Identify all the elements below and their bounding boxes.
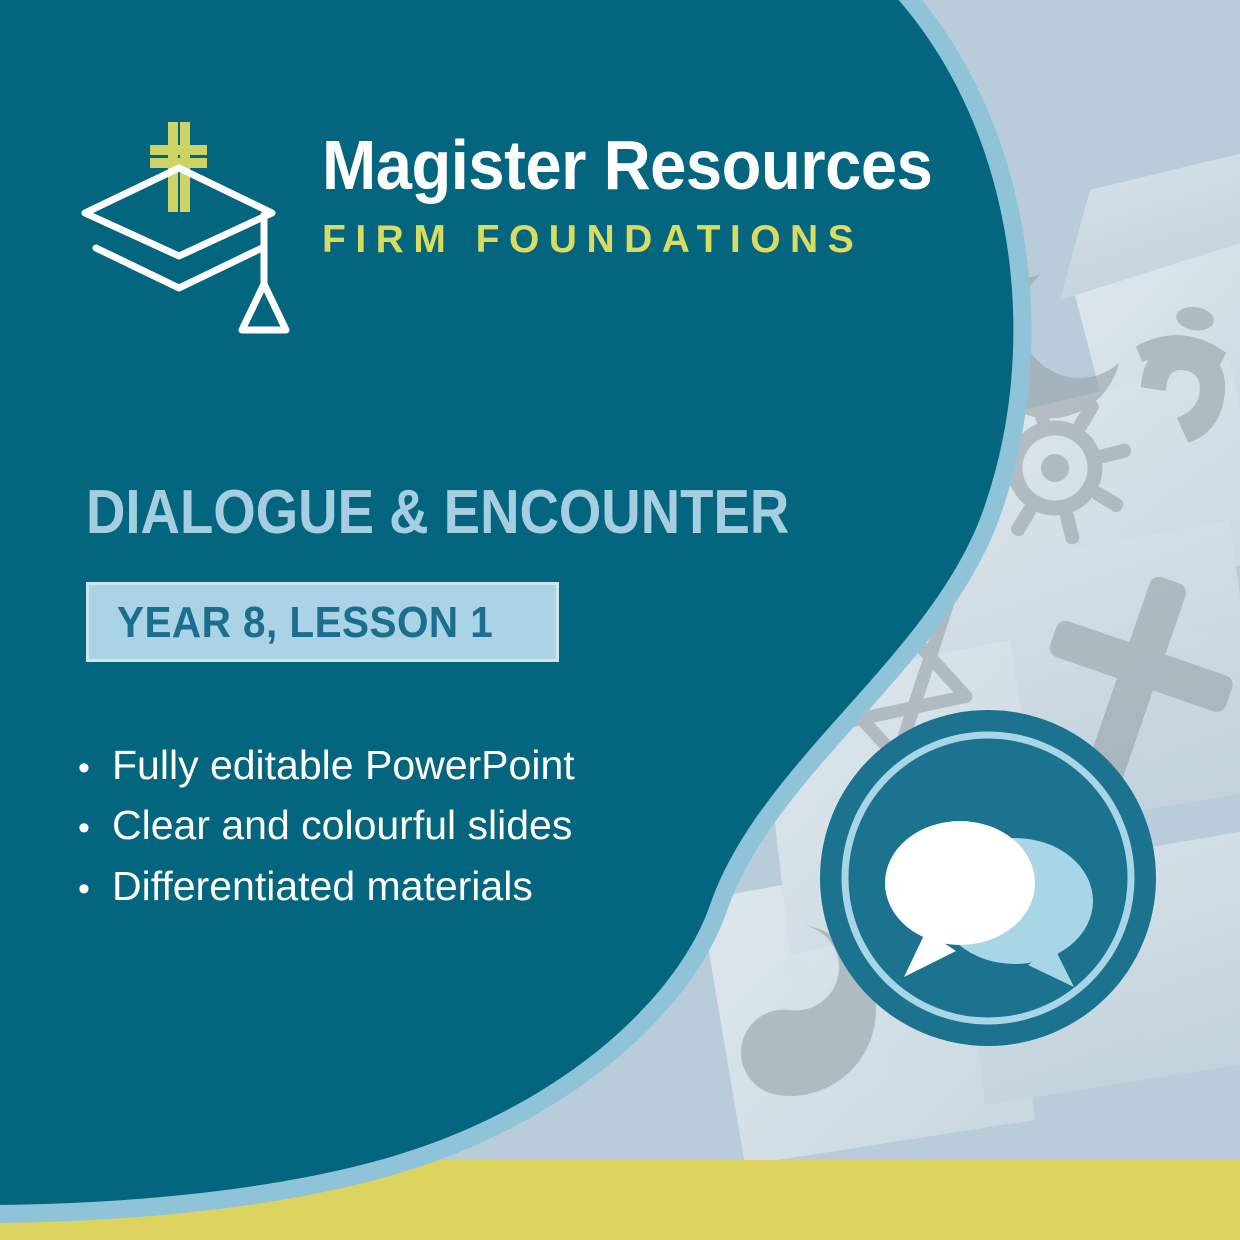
brand-name: Magister Resources	[322, 130, 852, 200]
graduation-cap-with-cross-icon	[72, 112, 302, 342]
list-item: • Fully editable PowerPoint	[78, 735, 718, 795]
page-title: DIALOGUE & ENCOUNTER	[86, 482, 702, 544]
brand-tagline: FIRM FOUNDATIONS	[322, 218, 892, 262]
promo-card: Magister Resources FIRM FOUNDATIONS DIAL…	[0, 0, 1240, 1240]
feature-list: • Fully editable PowerPoint • Clear and …	[78, 735, 718, 916]
lesson-header: DIALOGUE & ENCOUNTER YEAR 8, LESSON 1	[86, 482, 786, 662]
bullet-icon: •	[78, 744, 112, 794]
feature-label: Clear and colourful slides	[112, 795, 572, 855]
speech-bubbles-icon	[818, 708, 1158, 1048]
list-item: • Clear and colourful slides	[78, 795, 718, 855]
lesson-badge: YEAR 8, LESSON 1	[86, 582, 559, 662]
feature-label: Fully editable PowerPoint	[112, 735, 575, 795]
brand-text: Magister Resources FIRM FOUNDATIONS	[322, 130, 892, 262]
lesson-badge-label: YEAR 8, LESSON 1	[117, 601, 493, 645]
bullet-icon: •	[78, 804, 112, 854]
bullet-icon: •	[78, 865, 112, 915]
feature-label: Differentiated materials	[112, 856, 533, 916]
list-item: • Differentiated materials	[78, 856, 718, 916]
brand-lockup: Magister Resources FIRM FOUNDATIONS	[72, 112, 892, 342]
